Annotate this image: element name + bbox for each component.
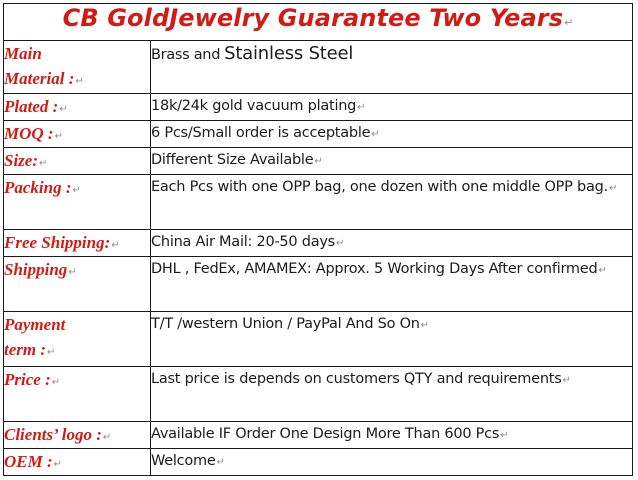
paragraph-mark-icon: ↵ xyxy=(356,102,365,113)
paragraph-mark-icon: ↵ xyxy=(608,183,617,194)
paragraph-mark-icon: ↵ xyxy=(335,238,344,249)
table-title-row: CB GoldJewelry Guarantee Two Years↵ xyxy=(4,4,633,41)
paragraph-mark-icon: ↵ xyxy=(499,430,508,441)
table-row: OEM :↵ Welcome↵ xyxy=(4,449,633,476)
row-value-moq: 6 Pcs/Small order is acceptable↵ xyxy=(151,121,633,148)
paragraph-mark-icon: ↵ xyxy=(46,347,55,358)
table-row: Size:↵ Different Size Available↵ xyxy=(4,148,633,175)
title-tagline: Jewelry Guarantee Two Years xyxy=(169,4,563,32)
paragraph-mark-icon: ↵ xyxy=(420,320,429,331)
paragraph-mark-icon: ↵ xyxy=(51,377,60,388)
material-primary: Stainless Steel xyxy=(220,43,353,64)
row-label-size: Size:↵ xyxy=(4,148,151,175)
paragraph-mark-icon: ↵ xyxy=(54,131,63,142)
paragraph-mark-icon: ↵ xyxy=(313,156,322,167)
row-label-packing: Packing :↵ xyxy=(4,175,151,230)
paragraph-mark-icon: ↵ xyxy=(58,104,67,115)
packing-text: Each Pcs with one OPP bag, one dozen wit… xyxy=(151,175,632,201)
product-specification-table: CB GoldJewelry Guarantee Two Years↵ Main… xyxy=(3,3,633,476)
table-row: Shipping↵ DHL , FedEx, AMAMEX: Approx. 5… xyxy=(4,257,633,312)
paragraph-mark-icon: ↵ xyxy=(563,16,573,29)
row-label-plated: Plated :↵ xyxy=(4,94,151,121)
table-row: Clients’ logo :↵ Available IF Order One … xyxy=(4,422,633,449)
table-row: Main Material :↵ Brass andStainless Stee… xyxy=(4,41,633,94)
row-value-size: Different Size Available↵ xyxy=(151,148,633,175)
paragraph-mark-icon: ↵ xyxy=(72,185,81,196)
row-value-payment-term: T/T /western Union / PayPal And So On↵ xyxy=(151,312,633,367)
paragraph-mark-icon: ↵ xyxy=(74,76,83,87)
row-label-clients-logo: Clients’ logo :↵ xyxy=(4,422,151,449)
table-row: MOQ :↵ 6 Pcs/Small order is acceptable↵ xyxy=(4,121,633,148)
paragraph-mark-icon: ↵ xyxy=(370,129,379,140)
page-title: CB GoldJewelry Guarantee Two Years xyxy=(63,3,563,32)
row-label-oem: OEM :↵ xyxy=(4,449,151,476)
table-row: Free Shipping:↵ China Air Mail: 20-50 da… xyxy=(4,230,633,257)
row-label-free-shipping: Free Shipping:↵ xyxy=(4,230,151,257)
paragraph-mark-icon: ↵ xyxy=(110,240,119,251)
row-value-plated: 18k/24k gold vacuum plating↵ xyxy=(151,94,633,121)
row-label-payment-term: Payment term :↵ xyxy=(4,312,151,367)
row-value-price: Last price is depends on customers QTY a… xyxy=(151,367,633,422)
table-row: Price :↵ Last price is depends on custom… xyxy=(4,367,633,422)
paragraph-mark-icon: ↵ xyxy=(102,432,111,443)
title-brand: CB Gold xyxy=(63,4,170,32)
row-value-packing: Each Pcs with one OPP bag, one dozen wit… xyxy=(151,175,633,230)
paragraph-mark-icon: ↵ xyxy=(53,459,62,470)
shipping-text: DHL , FedEx, AMAMEX: Approx. 5 Working D… xyxy=(151,257,632,283)
row-label-shipping: Shipping↵ xyxy=(4,257,151,312)
paragraph-mark-icon: ↵ xyxy=(216,457,225,468)
title-cell: CB GoldJewelry Guarantee Two Years↵ xyxy=(4,4,633,41)
table-row: Plated :↵ 18k/24k gold vacuum plating↵ xyxy=(4,94,633,121)
row-label-main-material: Main Material :↵ xyxy=(4,41,151,94)
row-label-moq: MOQ :↵ xyxy=(4,121,151,148)
paragraph-mark-icon: ↵ xyxy=(562,375,571,386)
row-value-shipping: DHL , FedEx, AMAMEX: Approx. 5 Working D… xyxy=(151,257,633,312)
row-label-price: Price :↵ xyxy=(4,367,151,422)
row-value-free-shipping: China Air Mail: 20-50 days↵ xyxy=(151,230,633,257)
paragraph-mark-icon: ↵ xyxy=(597,265,606,276)
table-row: Packing :↵ Each Pcs with one OPP bag, on… xyxy=(4,175,633,230)
paragraph-mark-icon: ↵ xyxy=(38,158,47,169)
row-value-main-material: Brass andStainless Steel xyxy=(151,41,633,94)
paragraph-mark-icon: ↵ xyxy=(67,267,76,278)
product-spec-page: CB GoldJewelry Guarantee Two Years↵ Main… xyxy=(0,0,638,480)
row-value-oem: Welcome↵ xyxy=(151,449,633,476)
row-value-clients-logo: Available IF Order One Design More Than … xyxy=(151,422,633,449)
price-text: Last price is depends on customers QTY a… xyxy=(151,367,632,393)
table-row: Payment term :↵ T/T /western Union / Pay… xyxy=(4,312,633,367)
material-base: Brass and xyxy=(151,47,220,63)
